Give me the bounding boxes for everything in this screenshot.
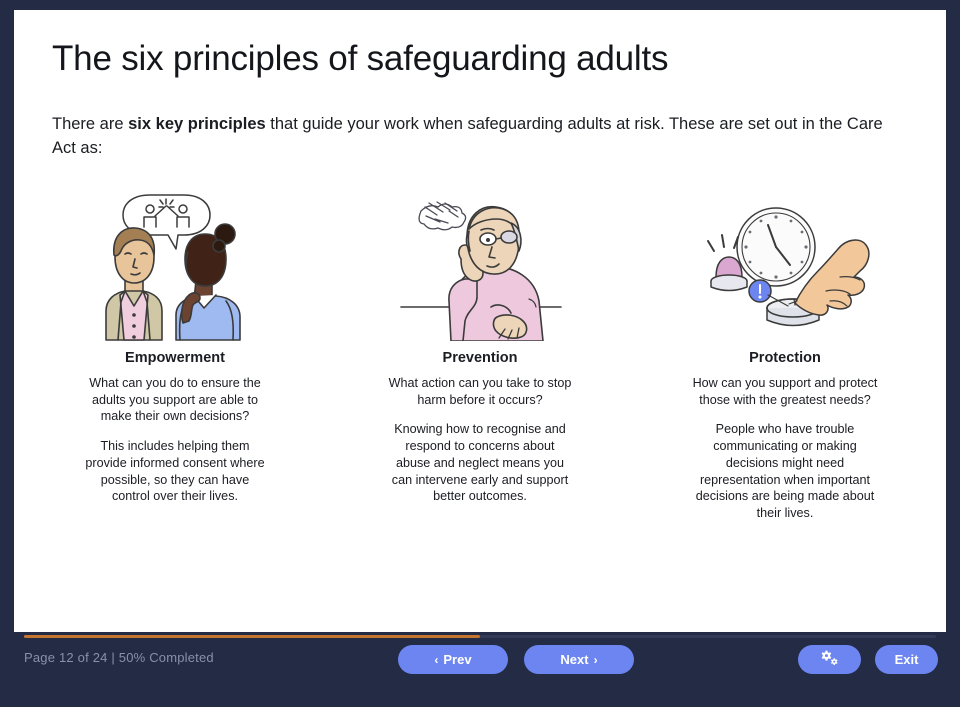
navigation-buttons: ‹ Prev Next › bbox=[398, 645, 634, 674]
prev-button[interactable]: ‹ Prev bbox=[398, 645, 508, 674]
principle-paragraph-1: How can you support and protect those wi… bbox=[692, 375, 878, 408]
principle-title: Protection bbox=[749, 350, 821, 366]
principle-paragraph-1: What can you do to ensure the adults you… bbox=[82, 375, 268, 425]
chevron-right-icon: › bbox=[594, 654, 598, 666]
page-status-text: Page 12 of 24 | 50% Completed bbox=[24, 650, 214, 665]
chevron-left-icon: ‹ bbox=[434, 654, 438, 666]
principle-card-empowerment: Empowerment What can you do to ensure th… bbox=[40, 186, 310, 505]
next-button-label: Next bbox=[560, 652, 588, 667]
principle-body: What can you do to ensure the adults you… bbox=[82, 375, 268, 505]
principle-body: What action can you take to stop harm be… bbox=[387, 375, 573, 505]
principle-body: How can you support and protect those wi… bbox=[692, 375, 878, 522]
next-button[interactable]: Next › bbox=[524, 645, 634, 674]
exit-button-label: Exit bbox=[895, 652, 919, 667]
slide-card: The six principles of safeguarding adult… bbox=[14, 10, 946, 632]
principle-paragraph-2: This includes helping them provide infor… bbox=[82, 438, 268, 505]
intro-paragraph: There are six key principles that guide … bbox=[52, 113, 908, 161]
principles-row: Empowerment What can you do to ensure th… bbox=[40, 186, 920, 522]
gears-icon bbox=[820, 650, 839, 670]
utility-buttons: Exit bbox=[798, 645, 938, 674]
principle-title: Empowerment bbox=[125, 350, 225, 366]
two-people-talking-with-speech-bubble-illustration bbox=[80, 186, 270, 344]
settings-button[interactable] bbox=[798, 645, 861, 674]
worried-older-man-with-thought-scribble-illustration bbox=[385, 186, 575, 344]
prev-button-label: Prev bbox=[443, 652, 471, 667]
progress-bar-fill bbox=[24, 635, 480, 638]
intro-text-before: There are bbox=[52, 115, 128, 133]
progress-bar-track bbox=[24, 635, 936, 638]
principle-card-protection: Protection How can you support and prote… bbox=[650, 186, 920, 522]
principle-paragraph-2: People who have trouble communicating or… bbox=[692, 421, 878, 521]
principle-paragraph-2: Knowing how to recognise and respond to … bbox=[387, 421, 573, 505]
hand-pressing-alarm-button-with-clock-illustration bbox=[690, 186, 880, 344]
principle-card-prevention: Prevention What action can you take to s… bbox=[345, 186, 615, 505]
principle-title: Prevention bbox=[443, 350, 518, 366]
exit-button[interactable]: Exit bbox=[875, 645, 938, 674]
principle-paragraph-1: What action can you take to stop harm be… bbox=[387, 375, 573, 408]
intro-text-bold: six key principles bbox=[128, 115, 266, 133]
page-title: The six principles of safeguarding adult… bbox=[52, 39, 668, 79]
